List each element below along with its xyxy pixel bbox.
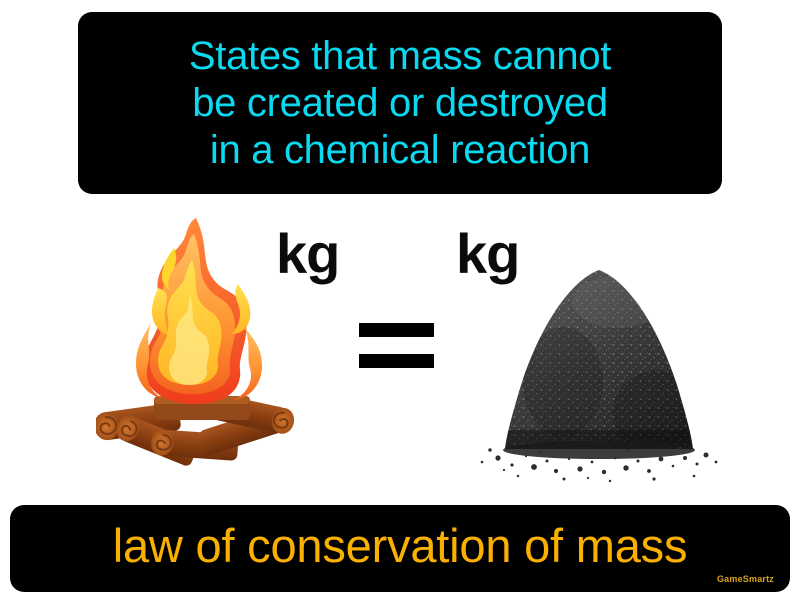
term-label: law of conservation of mass — [113, 520, 688, 572]
equals-bar-bottom — [359, 354, 434, 368]
campfire-flames — [136, 218, 262, 404]
definition-banner: States that mass cannot be created or de… — [78, 12, 722, 194]
definition-line-3: in a chemical reaction — [210, 127, 590, 174]
equals-sign — [359, 323, 434, 368]
ash-mound — [468, 262, 730, 462]
watermark-label: GameSmartz — [717, 574, 774, 584]
definition-line-1: States that mass cannot — [189, 33, 611, 80]
kg-label-left: kg — [276, 226, 339, 282]
campfire-icon — [96, 200, 296, 492]
equals-bar-top — [359, 323, 434, 337]
term-banner: law of conservation of mass GameSmartz — [10, 505, 790, 592]
ash-pile-icon — [468, 262, 730, 492]
definition-line-2: be created or destroyed — [192, 80, 608, 127]
illustration-area: kg kg — [0, 196, 800, 501]
